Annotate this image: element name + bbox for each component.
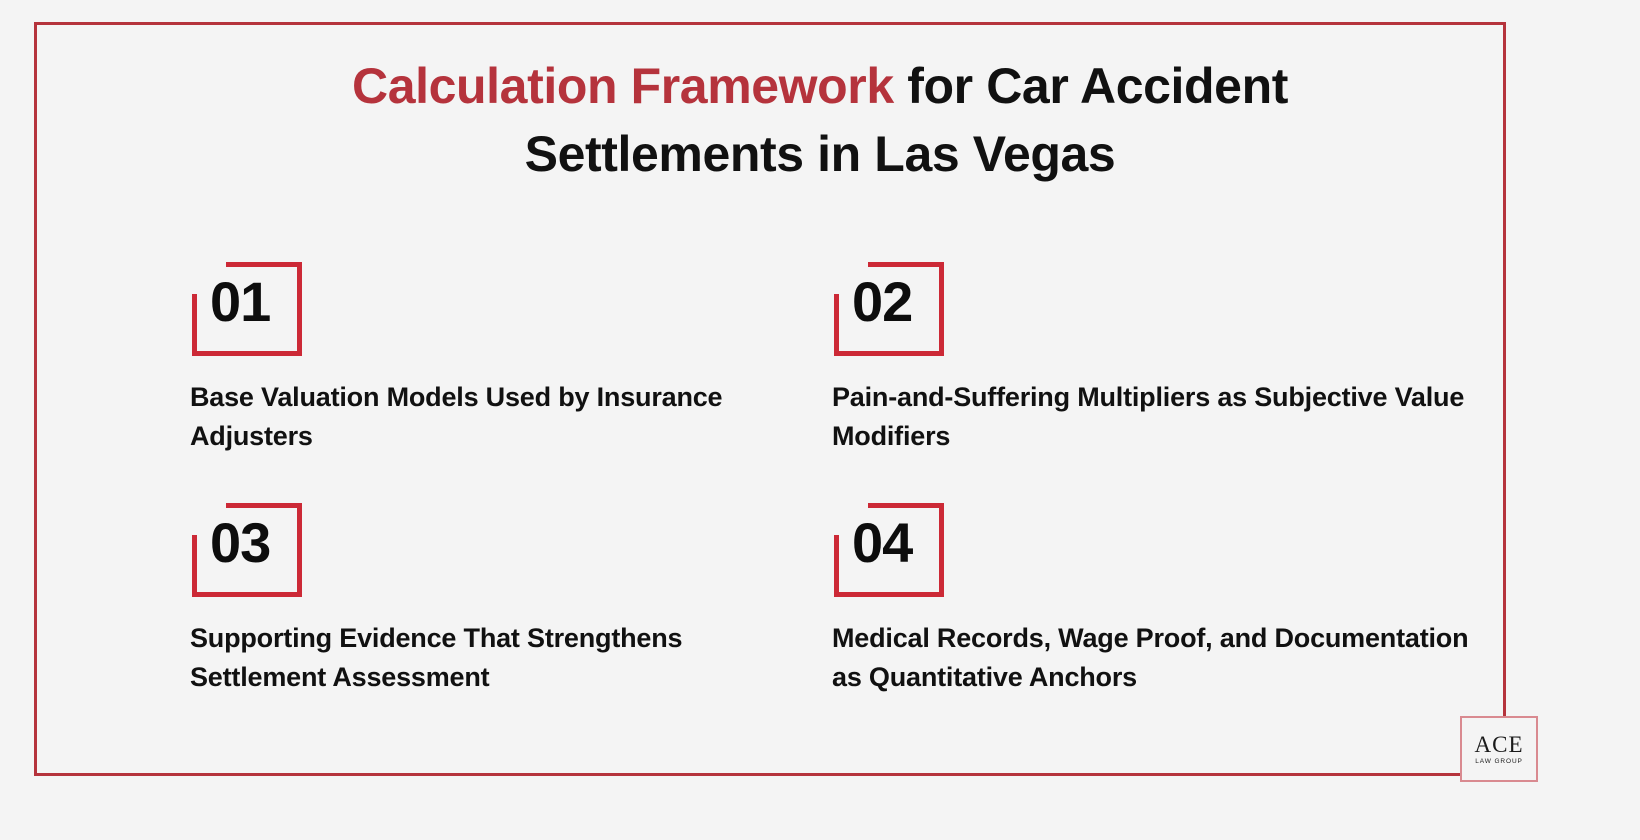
badge-edge-top-icon (868, 262, 944, 267)
badge-edge-left-icon (834, 535, 839, 597)
number-badge-04: 04 (832, 493, 944, 597)
badge-edge-top-icon (226, 503, 302, 508)
framework-item-04: 04 Medical Records, Wage Proof, and Docu… (832, 493, 1472, 697)
badge-number-text: 02 (852, 274, 912, 330)
badge-number-text: 03 (210, 515, 270, 571)
page-title: Calculation Framework for Car Accident S… (270, 52, 1370, 188)
badge-number-text: 01 (210, 274, 270, 330)
infographic-slide: Calculation Framework for Car Accident S… (0, 0, 1640, 840)
number-badge-02: 02 (832, 252, 944, 356)
framework-item-heading: Supporting Evidence That Strengthens Set… (190, 619, 810, 697)
logo-mark-text: ACE (1475, 733, 1524, 756)
badge-edge-top-icon (868, 503, 944, 508)
framework-item-heading: Base Valuation Models Used by Insurance … (190, 378, 810, 456)
ace-law-group-logo: ACE LAW GROUP (1460, 716, 1538, 782)
framework-item-heading: Pain-and-Suffering Multipliers as Subjec… (832, 378, 1472, 456)
badge-edge-bottom-icon (834, 592, 944, 597)
framework-item-02: 02 Pain-and-Suffering Multipliers as Sub… (832, 252, 1472, 456)
badge-edge-right-icon (939, 262, 944, 356)
badge-number-text: 04 (852, 515, 912, 571)
badge-edge-right-icon (939, 503, 944, 597)
badge-edge-left-icon (192, 294, 197, 356)
framework-item-01: 01 Base Valuation Models Used by Insuran… (190, 252, 830, 456)
badge-edge-bottom-icon (192, 592, 302, 597)
badge-edge-bottom-icon (834, 351, 944, 356)
number-badge-01: 01 (190, 252, 302, 356)
logo-subtitle-text: LAW GROUP (1475, 759, 1523, 766)
page-title-accent: Calculation Framework (352, 58, 894, 114)
badge-edge-bottom-icon (192, 351, 302, 356)
framework-item-03: 03 Supporting Evidence That Strengthens … (190, 493, 830, 697)
framework-item-heading: Medical Records, Wage Proof, and Documen… (832, 619, 1472, 697)
number-badge-03: 03 (190, 493, 302, 597)
badge-edge-right-icon (297, 262, 302, 356)
badge-edge-left-icon (192, 535, 197, 597)
badge-edge-left-icon (834, 294, 839, 356)
badge-edge-top-icon (226, 262, 302, 267)
badge-edge-right-icon (297, 503, 302, 597)
